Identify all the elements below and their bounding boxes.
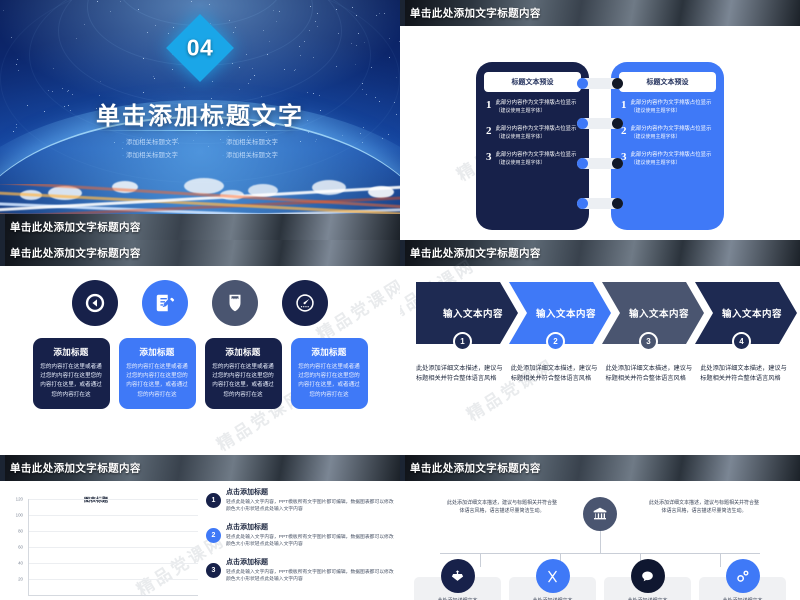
notepad-pen-icon[interactable] — [142, 280, 188, 326]
header-accent — [400, 240, 405, 266]
info-card[interactable]: 添加标题 您的内容打在这里或者通过您的内容打在这里您的内容打在这里，或者通过您的… — [205, 338, 282, 409]
header-title: 单击此处添加文字标题内容 — [410, 246, 541, 261]
star — [304, 41, 305, 42]
header-title: 单击此处添加文字标题内容 — [10, 220, 141, 235]
column-item: 1 此部分内容作为文字排版占位显示 （建议使用主题字体） — [619, 100, 716, 115]
star — [366, 94, 367, 95]
y-axis-tick: 40 — [18, 561, 23, 566]
cover-bullets: 添加相关标题文字 添加相关标题文字 添加相关标题文字 添加相关标题文字 — [100, 136, 300, 162]
column-item: 1 此部分内容作为文字排版占位显示 （建议使用主题字体） — [484, 100, 581, 115]
header-accent — [0, 455, 5, 481]
star — [17, 59, 18, 60]
star — [310, 6, 311, 7]
slide-cover[interactable]: 04 单击添加标题文字 添加相关标题文字 添加相关标题文字 添加相关标题文字 添… — [0, 0, 400, 240]
chevron-label: 输入文本内容 — [617, 306, 689, 320]
column-item: 3 此部分内容作为文字排版占位显示 （建议使用主题字体） — [484, 152, 581, 167]
card-title: 添加标题 — [126, 346, 189, 358]
slide-body: 精品党课网 精品党课网 添加标题 您的内容打在这里或 — [0, 266, 400, 455]
connector-dot-left — [577, 198, 588, 209]
item-line-1: 此部分内容作为文字排版占位显示 — [496, 152, 577, 160]
slide-two-column[interactable]: 单击此处添加文字标题内容 精品党课网 标题文本预设 1 此部分内容作为文字排版占… — [400, 0, 800, 240]
star — [232, 63, 233, 64]
star — [155, 25, 156, 26]
item-line-2: （建议使用主题字体） — [631, 108, 712, 116]
chart-plot-area — [28, 499, 198, 595]
star — [362, 83, 363, 84]
star — [212, 81, 213, 82]
header-accent — [0, 240, 5, 266]
legend-title: 点击添加标题 — [226, 557, 396, 567]
star — [356, 45, 357, 46]
item-number: 2 — [486, 126, 492, 136]
card-body: 您的内容打在这里或者通过您的内容打在这里您的内容打在这里，或者通过您的内容打在这 — [40, 363, 103, 400]
connector-dot-left — [577, 118, 588, 129]
star — [358, 33, 359, 34]
star — [248, 83, 249, 84]
column-item: 3 此部分内容作为文字排版占位显示 （建议使用主题字体） — [619, 152, 716, 167]
star — [371, 67, 372, 68]
star — [48, 90, 49, 91]
slide-body: 精品党课网 图表标题 12010080604020 1 点击添加标题 轻点此处输… — [0, 481, 400, 600]
watermark: 精品党课网 — [461, 351, 559, 425]
header-accent — [400, 0, 405, 26]
slide-body: 精品党课网 标题文本预设 1 此部分内容作为文字排版占位显示 （建议使用主题字体… — [400, 26, 800, 240]
column-badge: 标题文本预设 — [619, 72, 716, 92]
star — [239, 89, 240, 90]
y-axis-tick: 100 — [16, 513, 23, 518]
header-title: 单击此处添加文字标题内容 — [410, 6, 541, 21]
star — [396, 77, 397, 78]
tree-left-text: 此处添加详细文本描述，建议与标题相关并符合整体语言风格，语言描述尽量简洁生动。 — [446, 499, 558, 515]
star — [351, 43, 352, 44]
slide-thumbnail-grid: 04 单击添加标题文字 添加相关标题文字 添加相关标题文字 添加相关标题文字 添… — [0, 0, 800, 600]
chart-legend-list: 1 点击添加标题 轻点此处输入文字内容，PPT模板所有文字图片都可编辑，数据图表… — [206, 487, 396, 591]
star — [294, 70, 295, 71]
star — [307, 92, 308, 93]
info-card[interactable]: 添加标题 您的内容打在这里或者通过您的内容打在这里您的内容打在这里，或者通过您的… — [33, 338, 110, 409]
cover-title: 单击添加标题文字 — [0, 96, 400, 131]
star — [173, 27, 174, 28]
star — [388, 134, 389, 135]
star — [52, 91, 53, 92]
star — [68, 90, 69, 91]
star — [172, 69, 173, 70]
star — [13, 131, 14, 132]
item-line-2: （建议使用主题字体） — [496, 108, 577, 116]
cover-background: 04 单击添加标题文字 添加相关标题文字 添加相关标题文字 添加相关标题文字 添… — [0, 0, 400, 240]
step-badge: 1 — [453, 332, 472, 351]
slide-body: 此处添加详细文本描述，建议与标题相关并符合整体语言风格，语言描述尽量简洁生动。 … — [400, 481, 800, 600]
star — [273, 10, 274, 11]
star — [309, 30, 310, 31]
star — [254, 75, 255, 76]
star — [18, 70, 19, 71]
star — [138, 9, 139, 10]
chevron-label: 输入文本内容 — [524, 306, 596, 320]
star — [100, 81, 101, 82]
step-description: 此处添加详细文本描述，建议与标题相关并符合整体语言风格 — [511, 364, 599, 384]
tree-leaf[interactable]: 此处添加详细文本 — [509, 559, 596, 600]
card-title: 添加标题 — [298, 346, 361, 358]
column-connectors — [577, 62, 623, 230]
connector-dot-left — [577, 78, 588, 89]
bar-chart: 图表标题 12010080604020 — [6, 491, 202, 600]
star — [184, 87, 185, 88]
star — [356, 15, 357, 16]
tree-leaf[interactable]: 此处添加详细文本 — [604, 559, 691, 600]
star — [246, 54, 247, 55]
info-card[interactable]: 添加标题 您的内容打在这里或者通过您的内容打在这里您的内容打在这里，或者通过您的… — [119, 338, 196, 409]
card-body: 您的内容打在这里或者通过您的内容打在这里您的内容打在这里，或者通过您的内容打在这 — [298, 363, 361, 400]
header-title: 单击此处添加文字标题内容 — [10, 246, 141, 261]
star — [110, 11, 111, 12]
cover-bullet: 添加相关标题文字 — [200, 136, 300, 149]
item-line-2: （建议使用主题字体） — [631, 134, 712, 142]
y-axis-tick: 120 — [16, 497, 23, 502]
star — [384, 13, 385, 14]
legend-body: 轻点此处输入文字内容，PPT模板所有文字图片都可编辑，数据图表都可以修改颜色大小… — [226, 534, 396, 549]
star — [379, 13, 380, 14]
star — [267, 54, 268, 55]
legend-item[interactable]: 1 点击添加标题 轻点此处输入文字内容，PPT模板所有文字图片都可编辑，数据图表… — [206, 487, 396, 514]
legend-title: 点击添加标题 — [226, 522, 396, 532]
star — [239, 67, 240, 68]
chevron-label: 输入文本内容 — [431, 306, 503, 320]
open-box-icon[interactable] — [441, 559, 475, 593]
connector-dot-right — [612, 118, 623, 129]
y-axis-tick: 60 — [18, 545, 23, 550]
slide-icon-cards[interactable]: 单击此处添加文字标题内容 精品党课网 精品党课网 — [0, 240, 400, 455]
tree-leaves: 此处添加详细文本 此处添加详细文本 此处添加详细文本 — [414, 559, 786, 600]
star — [76, 38, 77, 39]
column-blue[interactable]: 标题文本预设 1 此部分内容作为文字排版占位显示 （建议使用主题字体） 2 此部… — [611, 62, 724, 230]
slide-header-bar: 单击此处添加文字标题内容 — [0, 240, 400, 266]
star — [313, 57, 314, 58]
star — [376, 15, 377, 16]
slide-header-bar: 单击此处添加文字标题内容 — [400, 240, 800, 266]
star — [263, 30, 264, 31]
connector-dot-right — [612, 158, 623, 169]
legend-title: 点击添加标题 — [226, 487, 396, 497]
legend-body: 轻点此处输入文字内容，PPT模板所有文字图片都可编辑，数据图表都可以修改颜色大小… — [226, 569, 396, 584]
star — [154, 78, 155, 79]
icon-row — [0, 280, 400, 326]
step-description: 此处添加详细文本描述，建议与标题相关并符合整体语言风格 — [416, 364, 504, 384]
slide-chart[interactable]: 单击此处添加文字标题内容 精品党课网 图表标题 12010080604020 1… — [0, 455, 400, 600]
step-description: 此处添加详细文本描述，建议与标题相关并符合整体语言风格 — [700, 364, 788, 384]
star — [120, 1, 121, 2]
star — [313, 93, 314, 94]
star — [336, 9, 337, 10]
star — [191, 1, 192, 2]
gauge-icon[interactable] — [282, 280, 328, 326]
star — [229, 20, 230, 21]
slide-header-bar: 单击此处添加文字标题内容 — [0, 455, 400, 481]
cover-bullet: 添加相关标题文字 — [100, 136, 200, 149]
star — [295, 69, 296, 70]
card-title: 添加标题 — [40, 346, 103, 358]
chart-x-axis — [28, 595, 198, 596]
star — [389, 57, 390, 58]
info-card[interactable]: 添加标题 您的内容打在这里或者通过您的内容打在这里您的内容打在这里，或者通过您的… — [291, 338, 368, 409]
star — [317, 26, 318, 27]
item-line-1: 此部分内容作为文字排版占位显示 — [496, 126, 577, 134]
chart-bars — [35, 499, 194, 595]
star — [315, 21, 316, 22]
card-title: 添加标题 — [212, 346, 275, 358]
cover-bullet: 添加相关标题文字 — [100, 149, 200, 162]
legend-number: 2 — [206, 528, 221, 543]
legend-number: 1 — [206, 493, 221, 508]
scissors-icon[interactable] — [536, 559, 570, 593]
connector-dot-right — [612, 198, 623, 209]
column-item: 2 此部分内容作为文字排版占位显示 （建议使用主题字体） — [619, 126, 716, 141]
star — [317, 13, 318, 14]
header-accent — [0, 214, 5, 240]
star — [143, 92, 144, 93]
star — [364, 42, 365, 43]
header-accent — [400, 455, 405, 481]
item-line-1: 此部分内容作为文字排版占位显示 — [496, 100, 577, 108]
slide-header-bar: 单击此处添加文字标题内容 — [400, 0, 800, 26]
star — [338, 33, 339, 34]
star — [3, 10, 4, 11]
header-title: 单击此处添加文字标题内容 — [410, 461, 541, 476]
y-axis-tick: 20 — [18, 577, 23, 582]
star — [252, 68, 253, 69]
cover-bullet: 添加相关标题文字 — [200, 149, 300, 162]
star — [67, 91, 68, 92]
star — [233, 32, 234, 33]
card-body: 您的内容打在这里或者通过您的内容打在这里您的内容打在这里，或者通过您的内容打在这 — [126, 363, 189, 400]
item-line-1: 此部分内容作为文字排版占位显示 — [631, 100, 712, 108]
column-item: 2 此部分内容作为文字排版占位显示 （建议使用主题字体） — [484, 126, 581, 141]
legend-item[interactable]: 2 点击添加标题 轻点此处输入文字内容，PPT模板所有文字图片都可编辑，数据图表… — [206, 522, 396, 549]
star — [11, 37, 12, 38]
star — [168, 33, 169, 34]
star — [279, 11, 280, 12]
slide-chevron-process[interactable]: 单击此处添加文字标题内容 精品党课网 精品党课网 输入文本内容 输入文本内容 输… — [400, 240, 800, 455]
item-line-2: （建议使用主题字体） — [496, 134, 577, 142]
chevron-descriptions: 此处添加详细文本描述，建议与标题相关并符合整体语言风格 此处添加详细文本描述，建… — [416, 364, 788, 384]
slide-header-bar: 单击此处添加文字标题内容 — [0, 214, 400, 240]
key-icon[interactable] — [726, 559, 760, 593]
star — [72, 94, 73, 95]
legend-item[interactable]: 3 点击添加标题 轻点此处输入文字内容，PPT模板所有文字图片都可编辑，数据图表… — [206, 557, 396, 584]
star — [209, 4, 210, 5]
star — [153, 76, 154, 77]
y-axis-tick: 80 — [18, 529, 23, 534]
legend-number: 3 — [206, 563, 221, 578]
star — [336, 66, 337, 67]
step-badge: 2 — [546, 332, 565, 351]
item-line-2: （建议使用主题字体） — [496, 160, 577, 168]
tree-stem — [600, 531, 601, 553]
section-number: 04 — [187, 35, 214, 62]
step-description: 此处添加详细文本描述，建议与标题相关并符合整体语言风格 — [606, 364, 694, 384]
star — [276, 21, 277, 22]
star — [84, 24, 85, 25]
legend-body: 轻点此处输入文字内容，PPT模板所有文字图片都可编辑，数据图表都可以修改颜色大小… — [226, 499, 396, 514]
star — [269, 41, 270, 42]
cover-divider — [92, 130, 308, 131]
tree-leaf[interactable]: 此处添加详细文本 — [414, 559, 501, 600]
star — [62, 88, 63, 89]
tree-leaf[interactable]: 此处添加详细文本 — [699, 559, 786, 600]
column-dark[interactable]: 标题文本预设 1 此部分内容作为文字排版占位显示 （建议使用主题字体） 2 此部… — [476, 62, 589, 230]
step-badge: 4 — [732, 332, 751, 351]
chart-y-axis: 12010080604020 — [6, 499, 26, 595]
star — [355, 64, 356, 65]
star — [299, 46, 300, 47]
item-number: 3 — [486, 152, 492, 162]
shield-crown-icon[interactable] — [212, 280, 258, 326]
star — [235, 27, 236, 28]
header-title: 单击此处添加文字标题内容 — [10, 461, 141, 476]
slide-body: 精品党课网 精品党课网 输入文本内容 输入文本内容 输入文本内容 输入文本内容 … — [400, 266, 800, 455]
star — [300, 55, 301, 56]
star — [143, 58, 144, 59]
chat-bubble-icon[interactable] — [631, 559, 665, 593]
tree-right-text: 此处添加详细文本描述，建议与标题相关并符合整体语言风格，语言描述尽量简洁生动。 — [648, 499, 760, 515]
slide-tree[interactable]: 单击此处添加文字标题内容 此处添加详细文本描述，建议与标题相关并符合整体语言风格… — [400, 455, 800, 600]
connector-dot-right — [612, 78, 623, 89]
slide-header-bar: 单击此处添加文字标题内容 — [400, 455, 800, 481]
chevron-badges: 1 2 3 4 — [416, 332, 788, 351]
card-body: 您的内容打在这里或者通过您的内容打在这里您的内容打在这里，或者通过您的内容打在这 — [212, 363, 275, 400]
step-badge: 3 — [639, 332, 658, 351]
star — [53, 68, 54, 69]
star — [250, 79, 251, 80]
star — [352, 7, 353, 8]
item-line-2: （建议使用主题字体） — [631, 160, 712, 168]
card-row: 添加标题 您的内容打在这里或者通过您的内容打在这里您的内容打在这里，或者通过您的… — [0, 338, 400, 409]
connector-dot-left — [577, 158, 588, 169]
item-line-1: 此部分内容作为文字排版占位显示 — [631, 126, 712, 134]
bank-icon[interactable] — [583, 497, 617, 531]
item-number: 1 — [486, 100, 492, 110]
play-circle-icon[interactable] — [72, 280, 118, 326]
star — [389, 38, 390, 39]
star — [97, 1, 98, 2]
chevron-label: 输入文本内容 — [710, 306, 782, 320]
star — [147, 32, 148, 33]
column-badge: 标题文本预设 — [484, 72, 581, 92]
item-line-1: 此部分内容作为文字排版占位显示 — [631, 152, 712, 160]
star — [16, 64, 17, 65]
star — [284, 69, 285, 70]
star — [362, 89, 363, 90]
